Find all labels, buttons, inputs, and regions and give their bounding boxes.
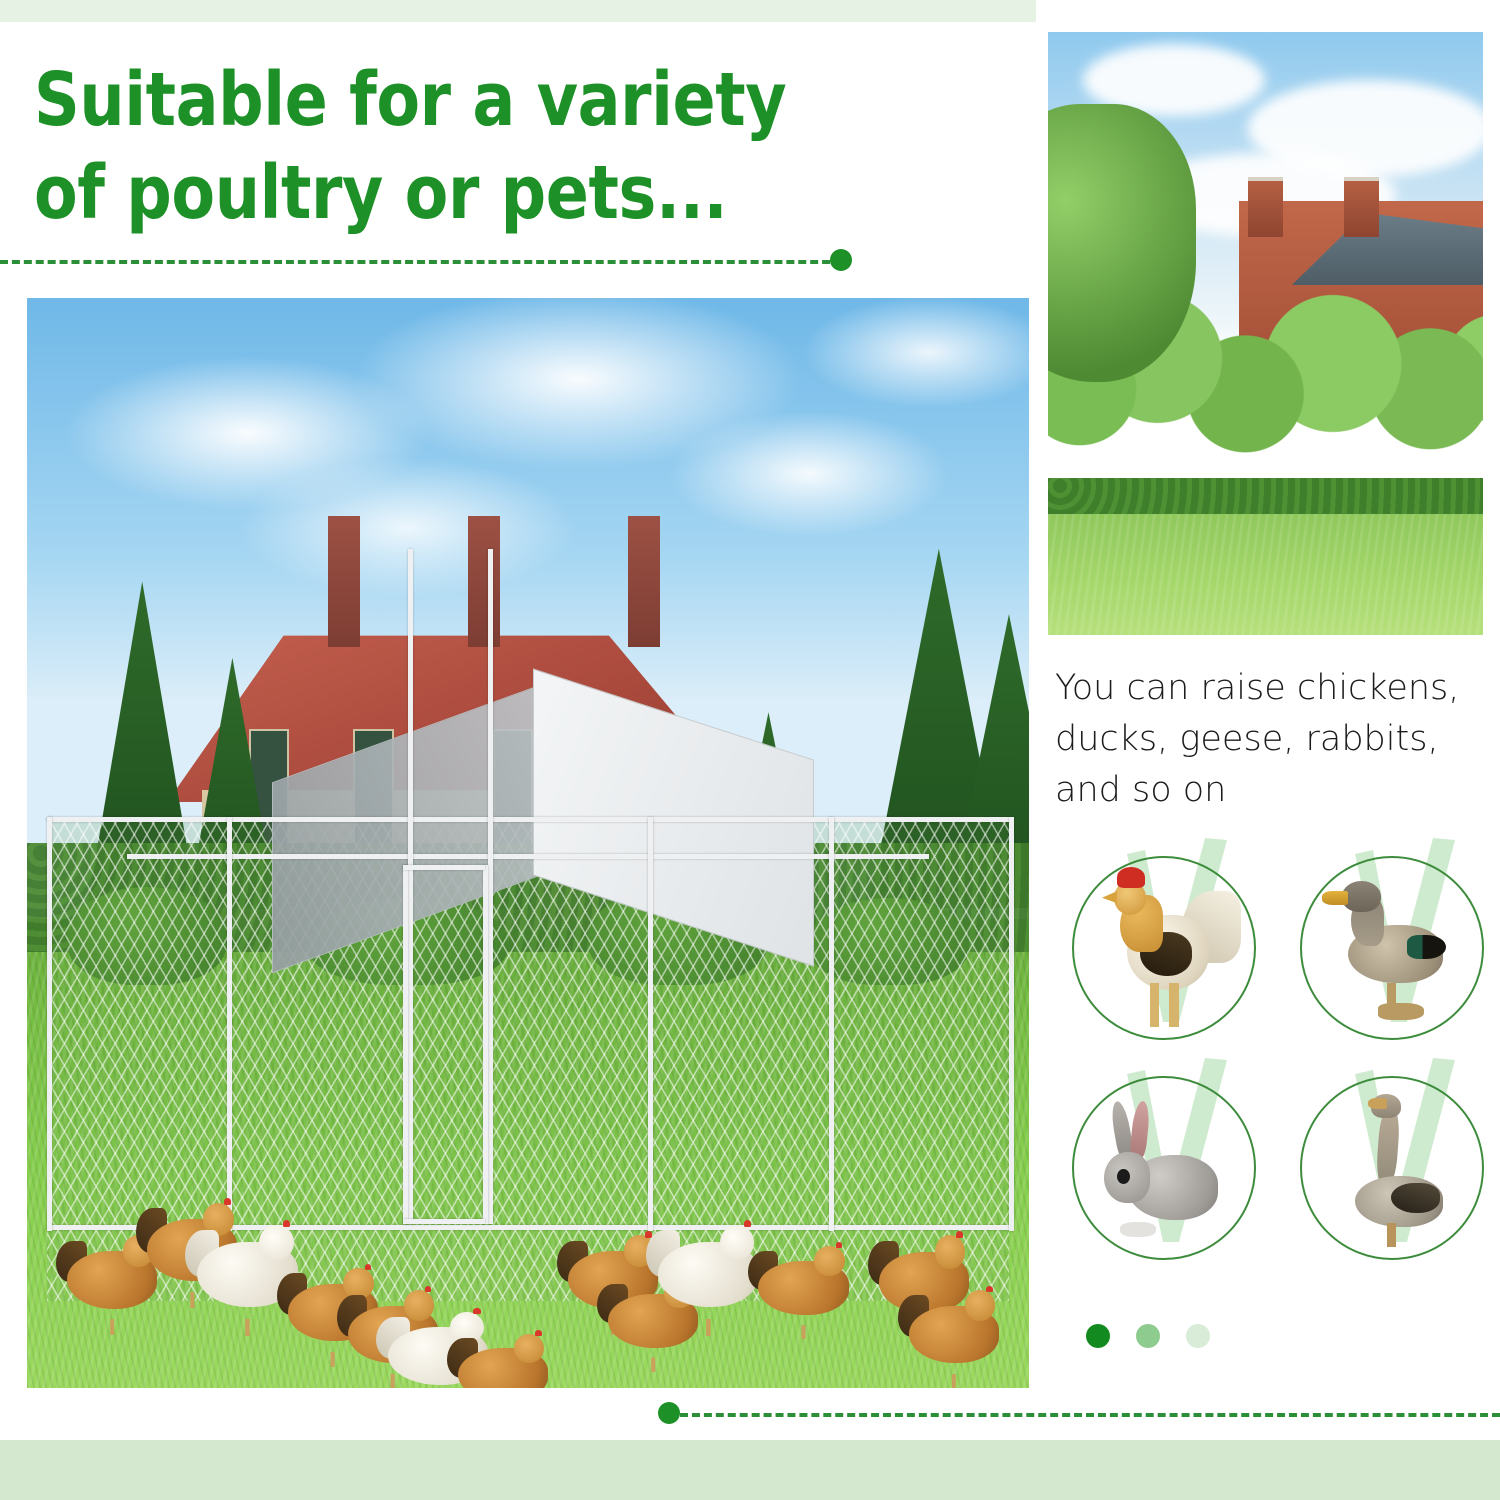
animal-icon-duck[interactable] xyxy=(1294,848,1494,1048)
chimney-icon xyxy=(1248,177,1283,237)
chimney-icon xyxy=(1344,177,1379,237)
chicken-comb xyxy=(744,1220,751,1227)
pager-dot-3[interactable] xyxy=(1186,1324,1210,1348)
chicken-comb xyxy=(283,1220,290,1227)
supporting-copy: You can raise chickens, ducks, geese, ra… xyxy=(1055,663,1485,815)
animal-icon-goose[interactable] xyxy=(1294,1068,1494,1268)
top-accent-band xyxy=(0,0,1036,22)
frame-post xyxy=(488,549,493,1225)
frame-post xyxy=(648,817,653,1231)
frame-post xyxy=(829,817,834,1231)
chicken xyxy=(458,1334,548,1389)
coop-door-frame xyxy=(403,865,408,1225)
frame-bar-top xyxy=(47,817,1009,822)
chicken-head xyxy=(720,1225,754,1260)
rabbit-icon xyxy=(1084,1084,1248,1254)
frame-bar-mid xyxy=(127,854,929,859)
chicken-comb xyxy=(224,1198,231,1205)
divider-dot-bottom xyxy=(658,1402,680,1424)
goose-icon xyxy=(1312,1084,1476,1254)
carousel-pager[interactable] xyxy=(1086,1324,1210,1348)
lawn-grass xyxy=(1048,514,1483,635)
pager-dot-1[interactable] xyxy=(1086,1324,1110,1348)
frame-post xyxy=(227,817,232,1231)
bottom-accent-band xyxy=(0,1440,1500,1500)
chicken xyxy=(909,1290,999,1377)
chicken xyxy=(758,1246,848,1328)
chicken-head xyxy=(935,1235,966,1268)
duck-icon xyxy=(1312,864,1476,1034)
divider-dashed-bottom xyxy=(680,1413,1500,1417)
page-title: Suitable for a variety of poultry or pet… xyxy=(34,54,860,240)
chicken-comb xyxy=(986,1286,993,1292)
rooster-icon xyxy=(1084,864,1248,1034)
chicken-head xyxy=(259,1225,293,1260)
chicken-comb xyxy=(425,1286,432,1292)
chicken xyxy=(658,1225,758,1323)
chicken-comb xyxy=(473,1308,480,1314)
chicken-comb xyxy=(956,1231,963,1238)
chicken-head xyxy=(514,1334,545,1363)
frame-post xyxy=(1009,817,1014,1231)
divider-dashed-top xyxy=(0,260,842,264)
animal-icon-chicken[interactable] xyxy=(1066,848,1266,1048)
frame-post xyxy=(47,817,52,1231)
divider-dot-top xyxy=(830,249,852,271)
coop-door-frame xyxy=(403,1219,485,1224)
secondary-lawn-photo xyxy=(1048,32,1483,635)
pager-dot-2[interactable] xyxy=(1136,1324,1160,1348)
frame-post xyxy=(408,549,413,1225)
chicken-head xyxy=(814,1246,845,1275)
animal-icon-grid xyxy=(1060,848,1490,1288)
coop-door-frame xyxy=(483,865,488,1225)
coop-door-frame xyxy=(403,865,485,870)
chicken-comb xyxy=(365,1264,372,1270)
animal-icon-rabbit[interactable] xyxy=(1066,1068,1266,1268)
chicken-comb xyxy=(535,1330,542,1336)
chicken-comb xyxy=(836,1242,843,1248)
hero-product-photo xyxy=(27,298,1029,1388)
